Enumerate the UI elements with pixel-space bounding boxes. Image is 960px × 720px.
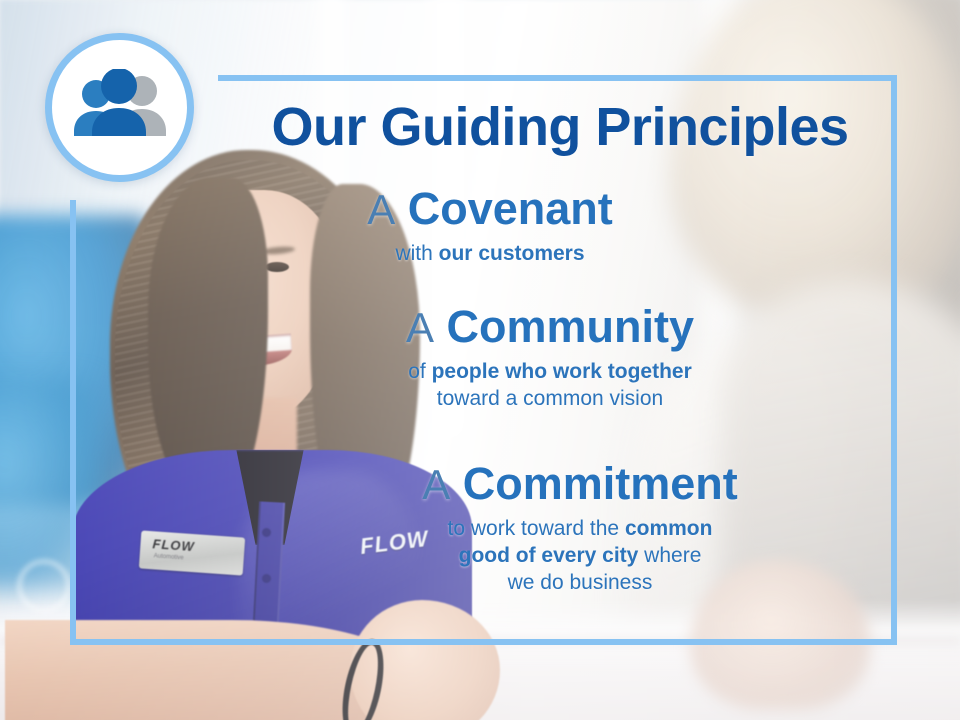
principle-article: A xyxy=(406,304,434,351)
principle-subtext-part: where xyxy=(638,544,701,567)
principle-subtext-part: of xyxy=(408,360,431,383)
principle-heading: A Covenant xyxy=(190,185,790,233)
principle-word: Covenant xyxy=(408,183,613,234)
principle-subtext-part: toward a common vision xyxy=(437,387,663,410)
principle-word: Commitment xyxy=(463,458,738,509)
principle-subtext: with our customers xyxy=(190,240,790,267)
principle-article: A xyxy=(367,186,395,233)
principle-commitment: A Commitment to work toward the common g… xyxy=(260,460,900,597)
principle-heading: A Community xyxy=(240,303,860,351)
poster-text-content: Our Guiding Principles A Covenant with o… xyxy=(70,75,897,645)
principle-subtext-part: to work toward the xyxy=(448,517,625,540)
principle-subtext-part: our customers xyxy=(439,242,585,265)
principle-subtext-part: with xyxy=(395,242,438,265)
principle-subtext-part: we do business xyxy=(508,571,653,594)
guiding-principles-poster: FLOW Automotive FLOW xyxy=(0,0,960,720)
principle-subtext-part: people who work together xyxy=(432,360,692,383)
page-title: Our Guiding Principles xyxy=(220,100,900,154)
principle-subtext-part: good of every city xyxy=(459,544,639,567)
principle-community: A Community of people who work together … xyxy=(240,303,860,412)
principle-subtext: of people who work together toward a com… xyxy=(240,358,860,413)
principle-article: A xyxy=(422,461,450,508)
principle-subtext-part: common xyxy=(625,517,713,540)
principle-subtext: to work toward the common good of every … xyxy=(260,515,900,597)
principle-heading: A Commitment xyxy=(260,460,900,508)
principle-covenant: A Covenant with our customers xyxy=(190,185,790,267)
principle-word: Community xyxy=(447,301,695,352)
